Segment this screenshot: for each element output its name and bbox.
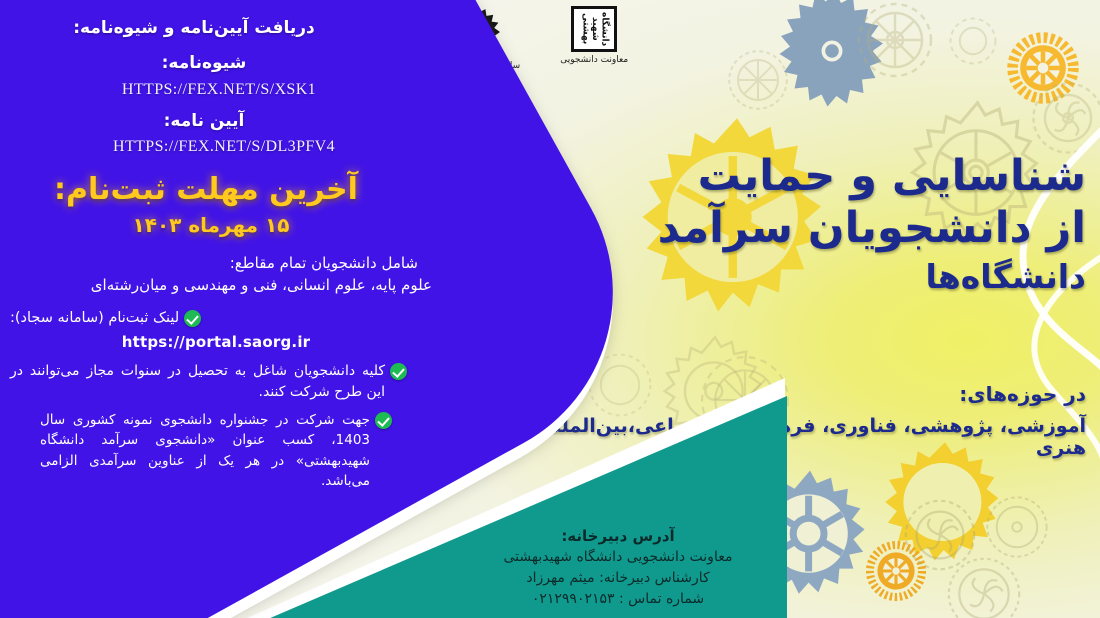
gear-icon-outline-tiny-left xyxy=(718,40,798,120)
method-label: شیوه‌نامه: xyxy=(10,53,438,74)
secretariat-line-1: معاونت دانشجویی دانشگاه شهیدبهشتی xyxy=(448,547,788,568)
scope-list: علوم پایه، علوم انسانی، فنی و مهندسی و م… xyxy=(10,275,438,297)
shahid-beheshti-university-logo: دانشگاه شهید بهشتی xyxy=(571,6,617,52)
regulation-url[interactable]: HTTPS://FEX.NET/S/DL3PFV4 xyxy=(10,138,438,156)
sbu-mark-text: دانشگاه شهید بهشتی xyxy=(580,9,608,49)
regulation-label: آیین نامه: xyxy=(10,111,438,132)
secretariat-block: آدرس دبیرخانه: معاونت دانشجویی دانشگاه ش… xyxy=(448,525,788,611)
poster-canvas: دانشگاه شهید بهشتی معاونت دانشجویی سازما… xyxy=(0,0,1100,618)
bullet-text-3: جهت شرکت در جشنواره دانشجوی نمونه کشوری … xyxy=(40,410,370,491)
secretariat-heading: آدرس دبیرخانه: xyxy=(448,525,788,548)
list-item: کلیه دانشجویان شاغل به تحصیل در سنوات مج… xyxy=(10,361,438,403)
list-item: جهت شرکت در جشنواره دانشجوی نمونه کشوری … xyxy=(10,410,438,491)
deadline-heading: آخرین مهلت ثبت‌نام: xyxy=(10,172,438,207)
gear-icon-outline-bottom-a xyxy=(895,490,985,580)
left-info-panel: دریافت آیین‌نامه و شیوه‌نامه: شیوه‌نامه:… xyxy=(0,0,452,595)
bullet-list: لینک ثبت‌نام (سامانه سجاد): https://port… xyxy=(10,308,438,491)
check-circle-icon xyxy=(390,363,407,380)
logo-shahid-beheshti-university: دانشگاه شهید بهشتی معاونت دانشجویی xyxy=(560,6,628,65)
logo-caption-student-affairs-deputy: معاونت دانشجویی xyxy=(560,55,628,65)
deadline-date: ۱۵ مهرماه ۱۴۰۳ xyxy=(10,213,438,237)
secretariat-phone: شماره تماس : ۰۲۱۲۹۹۰۲۱۵۳ xyxy=(448,589,788,610)
gear-icon-blue-large xyxy=(760,0,910,132)
gear-icon-outline-small-top xyxy=(845,0,945,90)
bullet-text-1: لینک ثبت‌نام (سامانه سجاد): xyxy=(10,308,179,330)
scope-heading: شامل دانشجویان تمام مقاطع: xyxy=(10,253,438,275)
gear-icon-outline-bottom-c xyxy=(940,550,1028,618)
gear-icon-amber-small xyxy=(1005,30,1081,106)
title-line-2: از دانشجویان سرآمد xyxy=(526,202,1086,254)
check-circle-icon xyxy=(184,310,201,327)
method-url[interactable]: HTTPS://FEX.NET/S/XSK1 xyxy=(10,81,438,99)
bullet-text-2: کلیه دانشجویان شاغل به تحصیل در سنوات مج… xyxy=(10,361,385,403)
download-heading: دریافت آیین‌نامه و شیوه‌نامه: xyxy=(10,18,438,39)
gear-icon-outline-bottom-b xyxy=(978,488,1056,566)
list-item: لینک ثبت‌نام (سامانه سجاد): xyxy=(10,308,438,330)
check-circle-icon xyxy=(375,412,392,429)
title-line-1: شناسایی و حمایت xyxy=(526,150,1086,202)
secretariat-line-2: کارشناس دبیرخانه: میثم مهرزاد xyxy=(448,568,788,589)
registration-link[interactable]: https://portal.saorg.ir xyxy=(10,333,438,351)
gear-icon-amber-bottom-small xyxy=(865,540,927,602)
gear-icon-outline-tiny-top xyxy=(940,8,1006,74)
